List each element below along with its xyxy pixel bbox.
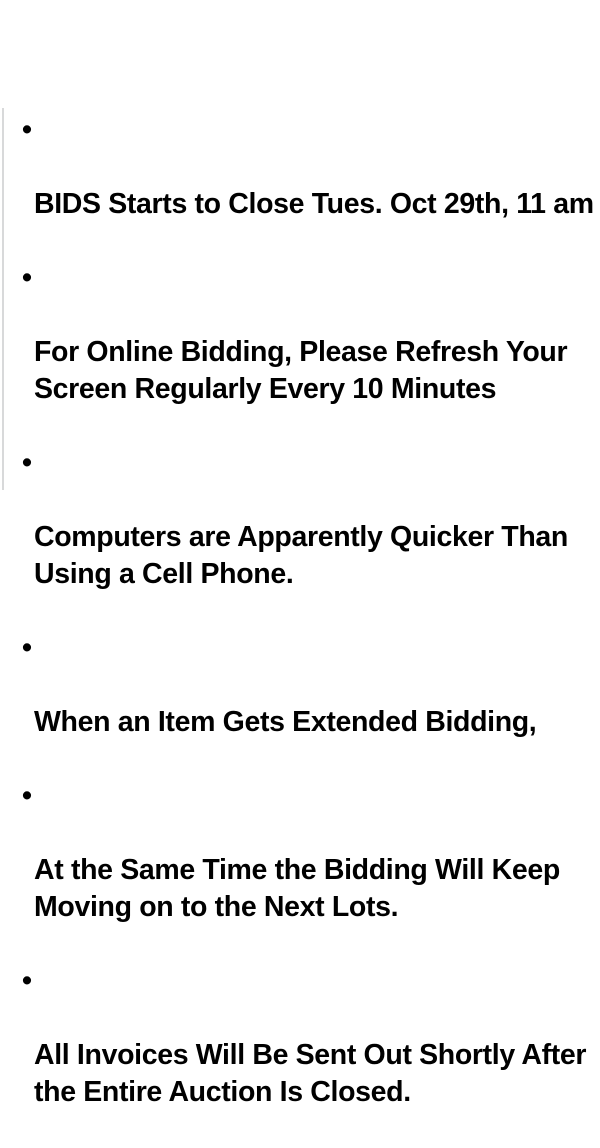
left-edge-rule [2,108,4,490]
list-item: • At the Same Time the Bidding Will Keep… [21,778,599,963]
bullet-point-icon: • [22,778,35,815]
list-item: • When an Item Gets Extended Bidding, [21,630,599,778]
bullet-list: • BIDS Starts to Close Tues. Oct 29th, 1… [21,112,599,1148]
list-item-text: All Invoices Will Be Sent Out Shortly Af… [34,1037,599,1111]
list-item: • For Online Bidding, Please Refresh You… [21,260,599,445]
bullet-point-icon: • [22,630,35,667]
list-item: • BIDS Starts to Close Tues. Oct 29th, 1… [21,112,599,260]
list-item: • Computers are Apparently Quicker Than … [21,445,599,630]
list-item-text: For Online Bidding, Please Refresh Your … [34,334,599,408]
list-item-text: At the Same Time the Bidding Will Keep M… [34,852,599,926]
list-item-text: BIDS Starts to Close Tues. Oct 29th, 11 … [34,186,599,223]
bullet-point-icon: • [22,112,35,149]
bullet-point-icon: • [22,963,35,1000]
list-item-text: Computers are Apparently Quicker Than Us… [34,519,599,593]
bullet-point-icon: • [22,445,35,482]
bullet-point-icon: • [22,260,35,297]
list-item: • All Invoices Will Be Sent Out Shortly … [21,963,599,1148]
notice-canvas: • BIDS Starts to Close Tues. Oct 29th, 1… [0,0,600,600]
list-item-text: When an Item Gets Extended Bidding, [34,704,599,741]
